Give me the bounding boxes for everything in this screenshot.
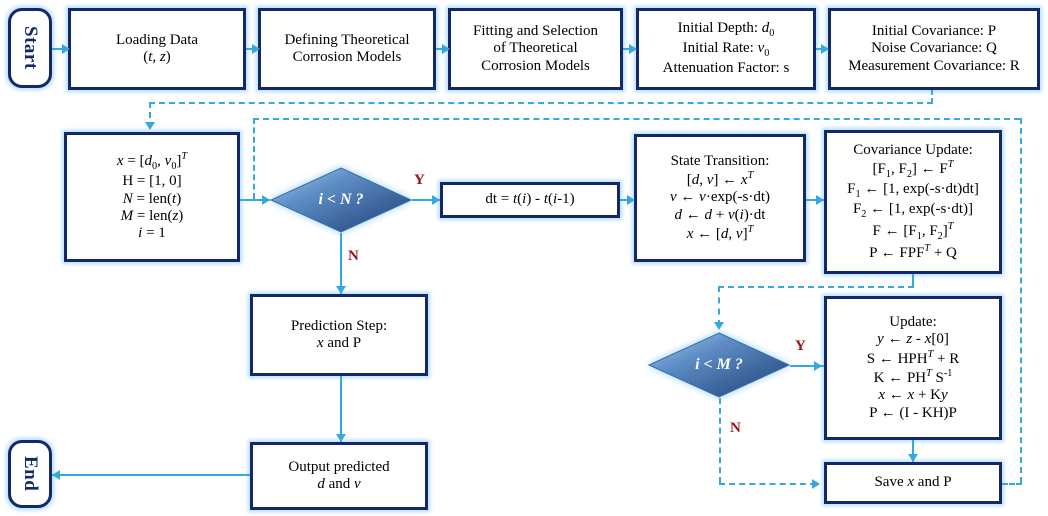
arrowhead-start-to-loading <box>62 44 70 54</box>
edge-label-n-yes: Y <box>414 172 425 189</box>
process-state-transition-text: State Transition: [d, v] ← xT v ← v·exp(… <box>670 153 770 244</box>
arrowhead-update-to-save <box>908 454 918 462</box>
dashed-to-decision-m-horizontal <box>718 286 914 288</box>
arrowhead-output-to-end <box>52 470 60 480</box>
process-covariance-update-text: Covariance Update: [F1, F2] ← FT F1 ← [1… <box>847 142 979 262</box>
process-defining-models-text: Defining Theoretical Corrosion Models <box>284 32 409 67</box>
process-update: Update: y ← z - x[0] S ← HPHT + R K ← PH… <box>824 296 1002 440</box>
process-initialize-variables-text: x = [d0, v0]T H = [1, 0] N = len(t) M = … <box>117 151 187 242</box>
arrowhead-decision-n-yes <box>432 195 440 205</box>
arrowhead-dashed-to-decision-m <box>714 322 724 330</box>
process-output-predicted-text: Output predicted d and v <box>288 459 389 494</box>
connector-decision-n-no <box>340 233 342 294</box>
connector-prediction-to-output <box>340 376 342 442</box>
process-save: Save x and P <box>824 462 1002 504</box>
process-state-transition: State Transition: [d, v] ← xT v ← v·exp(… <box>634 134 806 262</box>
process-defining-models: Defining Theoretical Corrosion Models <box>258 8 436 90</box>
process-update-text: Update: y ← z - x[0] S ← HPHT + R K ← PH… <box>867 314 960 422</box>
arrowhead-fitting-to-params <box>629 44 637 54</box>
terminator-start: Start <box>8 8 52 88</box>
terminator-start-label: Start <box>19 26 41 70</box>
process-fitting-models: Fitting and Selection of Theoretical Cor… <box>448 8 623 90</box>
arrowhead-loading-to-defining <box>252 44 260 54</box>
process-prediction-step-text: Prediction Step: x and P <box>291 318 387 353</box>
edge-label-m-yes: Y <box>795 338 806 355</box>
dashed-right-rail <box>1020 118 1022 483</box>
arrowhead-params-to-covariance <box>821 44 829 54</box>
arrowhead-dt-to-state-transition <box>627 195 635 205</box>
process-output-predicted: Output predicted d and v <box>250 442 428 510</box>
process-initial-covariance: Initial Covariance: P Noise Covariance: … <box>828 8 1040 90</box>
arrowhead-decision-n-no <box>336 286 346 294</box>
process-loading-data-text: Loading Data (t, z) <box>116 32 198 67</box>
arrowhead-state-to-covariance <box>816 195 824 205</box>
arrowhead-dashed-m-no-to-save <box>812 479 820 489</box>
process-initial-covariance-text: Initial Covariance: P Noise Covariance: … <box>848 23 1020 75</box>
edge-label-n-no: N <box>348 248 359 265</box>
process-initial-parameters: Initial Depth: d0 Initial Rate: v0 Atten… <box>636 8 816 90</box>
process-prediction-step: Prediction Step: x and P <box>250 294 428 376</box>
terminator-end-label: End <box>19 456 41 491</box>
process-covariance-update: Covariance Update: [F1, F2] ← FT F1 ← [1… <box>824 130 1002 274</box>
arrowhead-defining-to-fitting <box>442 44 450 54</box>
decision-loop-m: i < M ? <box>648 332 790 398</box>
decision-loop-n: i < N ? <box>270 167 412 233</box>
process-dt-calculation-text: dt = t(i) - t(i-1) <box>485 191 574 208</box>
process-initial-parameters-text: Initial Depth: d0 Initial Rate: v0 Atten… <box>663 20 790 77</box>
process-save-text: Save x and P <box>874 474 951 491</box>
arrowhead-decision-m-yes <box>814 361 822 371</box>
arrowhead-init-to-decision-n <box>262 195 270 205</box>
process-initialize-variables: x = [d0, v0]T H = [1, 0] N = len(t) M = … <box>64 132 240 262</box>
dashed-drop-to-decision-n <box>253 118 255 199</box>
process-fitting-models-text: Fitting and Selection of Theoretical Cor… <box>473 23 598 75</box>
connector-output-to-end <box>52 474 250 476</box>
process-loading-data: Loading Data (t, z) <box>68 8 246 90</box>
dashed-bus-loop <box>253 118 1020 120</box>
edge-label-m-no: N <box>730 420 741 437</box>
arrowhead-dashed-to-init <box>145 122 155 130</box>
dashed-covariance-update-drop <box>912 274 914 286</box>
terminator-end: End <box>8 440 52 508</box>
flowchart-canvas: Start End Loading Data (t, z) Defining T… <box>0 0 1048 516</box>
dashed-save-to-rail <box>1002 483 1022 485</box>
dashed-bus-upper <box>149 102 933 104</box>
dashed-decision-m-no-horizontal <box>719 483 816 485</box>
dashed-to-decision-m-vertical <box>718 286 720 326</box>
arrowhead-prediction-to-output <box>336 434 346 442</box>
process-dt-calculation: dt = t(i) - t(i-1) <box>440 182 620 218</box>
dashed-decision-m-no-vertical <box>719 398 721 483</box>
